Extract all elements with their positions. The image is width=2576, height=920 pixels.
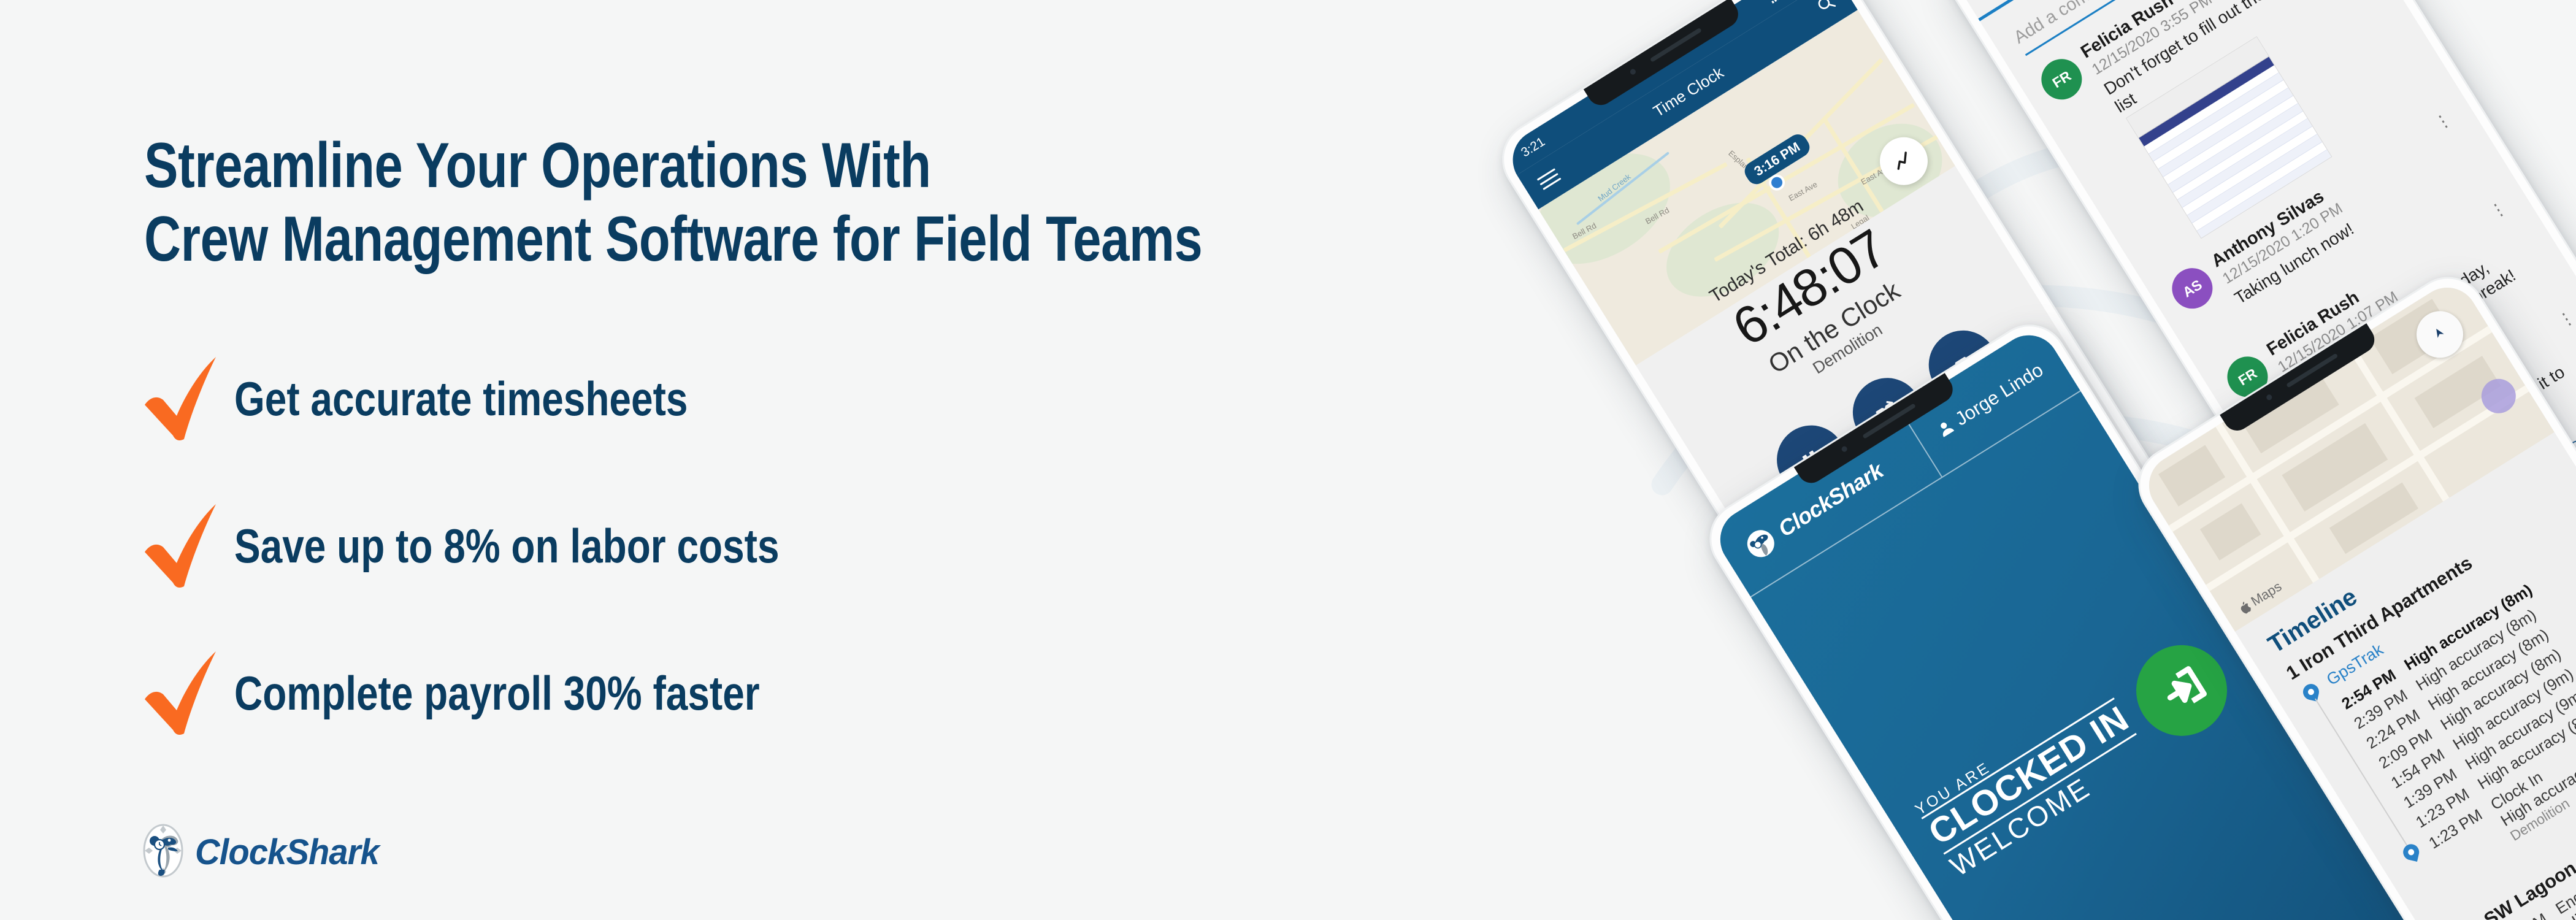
map-pin-icon: [2301, 683, 2320, 702]
list-item: Complete payroll 30% faster: [141, 647, 899, 739]
benefit-list: Get accurate timesheets Save up to 8% on…: [141, 353, 899, 794]
list-item-label: Get accurate timesheets: [234, 375, 688, 423]
shark-mascot-icon: [142, 823, 184, 878]
list-item: Save up to 8% on labor costs: [141, 500, 899, 592]
more-options-icon[interactable]: ⋮: [2557, 311, 2576, 328]
map-attribution: Maps: [2236, 578, 2285, 617]
list-item-label: Complete payroll 30% faster: [234, 669, 760, 717]
avatar: AS: [2164, 261, 2220, 316]
clockshark-logo[interactable]: ClockShark: [142, 823, 385, 878]
more-options-icon[interactable]: ⋮: [2434, 113, 2453, 130]
list-item-label: Save up to 8% on labor costs: [234, 522, 780, 570]
checkmark-icon: [141, 502, 221, 591]
more-options-icon[interactable]: ⋮: [2489, 202, 2508, 218]
user-icon: [1936, 418, 1955, 438]
checkmark-icon: [141, 649, 221, 738]
checkmark-icon: [141, 355, 221, 443]
content-column: Streamline Your Operations With Crew Man…: [0, 0, 1687, 920]
headline-line-2: Crew Management Software for Field Teams: [144, 202, 1371, 277]
logo-wordmark: ClockShark: [195, 835, 379, 870]
map-label: East Ave: [1787, 180, 1819, 203]
shark-mascot-icon: [1741, 523, 1781, 564]
map-attribution-label: Maps: [2248, 578, 2284, 610]
page-title: Streamline Your Operations With Crew Man…: [144, 129, 1371, 277]
avatar: FR: [2034, 52, 2090, 107]
headline-line-1: Streamline Your Operations With: [144, 129, 1371, 203]
phone-mockups: 3:21 Time Clock: [1656, 0, 2576, 920]
list-item: Get accurate timesheets: [141, 353, 899, 445]
user-name: Jorge Lindo: [1951, 359, 2047, 430]
map-pin-icon: [2402, 843, 2421, 862]
search-icon[interactable]: [1813, 0, 1841, 20]
hero-banner: Streamline Your Operations With Crew Man…: [0, 0, 2576, 920]
